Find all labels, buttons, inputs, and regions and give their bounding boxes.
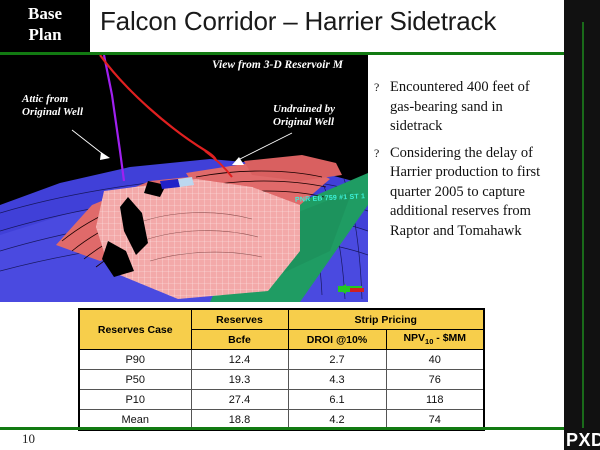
cell-droi: 4.3 [288, 370, 386, 390]
base-plan-line2: Plan [0, 24, 90, 45]
list-item: ? Considering the delay of Harrier produ… [374, 144, 552, 242]
cell-bcfe: 19.3 [191, 370, 288, 390]
bullet-marker-icon: ? [374, 144, 390, 164]
slide-canvas: Base Plan Falcon Corridor – Harrier Side… [0, 0, 600, 450]
reservoir-3d-figure: View from 3-D Reservoir M Attic from Ori… [0, 55, 368, 302]
cell-case: P50 [79, 370, 191, 390]
cell-npv: 76 [386, 370, 484, 390]
cell-case: P10 [79, 390, 191, 410]
column-header-bcfe: Bcfe [191, 330, 288, 350]
base-plan-tag: Base Plan [0, 3, 90, 45]
column-header-npv: NPV10 - $MM [386, 330, 484, 350]
cell-bcfe: 12.4 [191, 350, 288, 370]
cell-bcfe: 27.4 [191, 390, 288, 410]
reserves-table: Reserves Case Reserves Strip Pricing Bcf… [78, 308, 485, 431]
annotation-attic: Attic from Original Well [22, 93, 83, 119]
cell-case: P90 [79, 350, 191, 370]
table-row: P90 12.4 2.7 40 [79, 350, 484, 370]
column-header-droi: DROI @10% [288, 330, 386, 350]
base-plan-line1: Base [0, 3, 90, 24]
group-header-reserves: Reserves [191, 309, 288, 330]
divider-top [0, 52, 600, 55]
annotation-undrained: Undrained by Original Well [273, 103, 335, 129]
cell-droi: 6.1 [288, 390, 386, 410]
bullet-text: Encountered 400 feet of gas-bearing sand… [390, 78, 552, 137]
npv-prefix: NPV [403, 332, 425, 344]
npv-suffix: - $MM [433, 332, 466, 344]
pxd-logo: PXD [566, 430, 600, 450]
annotation-undrained-line2: Original Well [273, 116, 335, 129]
column-header-case: Reserves Case [79, 309, 191, 350]
page-title: Falcon Corridor – Harrier Sidetrack [100, 6, 550, 37]
right-edge-strip [564, 0, 600, 450]
bullet-marker-icon: ? [374, 78, 390, 98]
annotation-attic-line1: Attic from [22, 93, 83, 106]
divider-bottom [0, 427, 600, 430]
cell-droi: 2.7 [288, 350, 386, 370]
figure-caption: View from 3-D Reservoir M [212, 59, 343, 72]
table-group-header-row: Reserves Case Reserves Strip Pricing [79, 309, 484, 330]
bullet-text: Considering the delay of Harrier product… [390, 144, 552, 242]
strip-vertical-line [582, 22, 584, 428]
cell-npv: 40 [386, 350, 484, 370]
cell-npv: 118 [386, 390, 484, 410]
annotation-attic-line2: Original Well [22, 106, 83, 119]
table-body: P90 12.4 2.7 40 P50 19.3 4.3 76 P10 27.4… [79, 350, 484, 431]
bullet-list: ? Encountered 400 feet of gas-bearing sa… [374, 78, 552, 248]
reserves-table-wrapper: Reserves Case Reserves Strip Pricing Bcf… [78, 308, 483, 431]
table-row: P50 19.3 4.3 76 [79, 370, 484, 390]
annotation-undrained-line1: Undrained by [273, 103, 335, 116]
table-row: P10 27.4 6.1 118 [79, 390, 484, 410]
group-header-strip-pricing: Strip Pricing [288, 309, 484, 330]
page-number: 10 [22, 431, 35, 447]
list-item: ? Encountered 400 feet of gas-bearing sa… [374, 78, 552, 137]
